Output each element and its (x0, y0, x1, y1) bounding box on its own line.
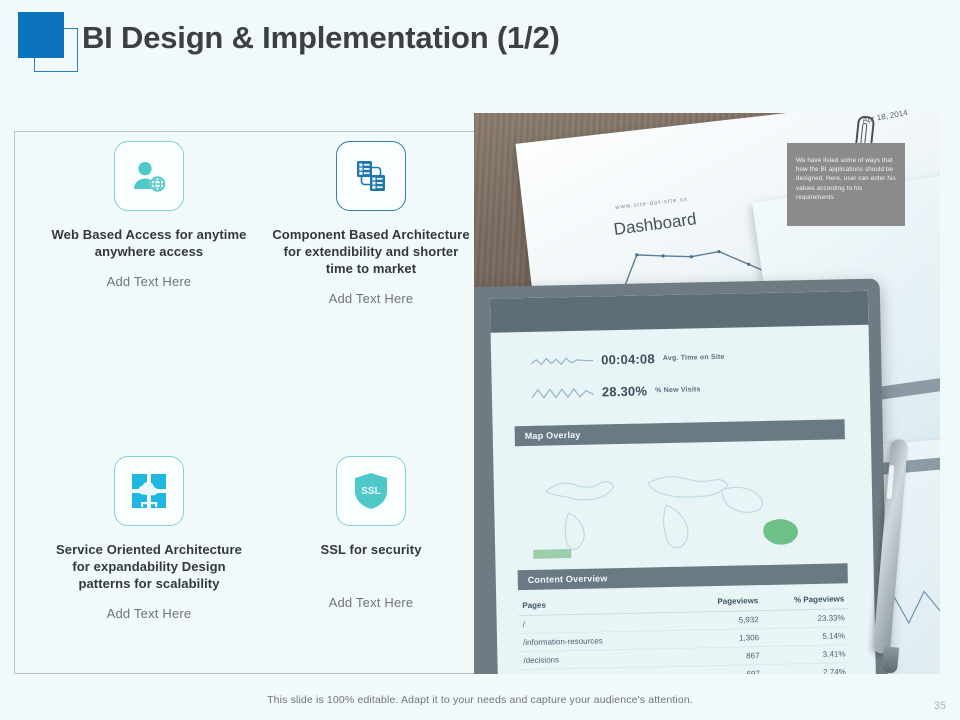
cell-pct: 2.74% (764, 663, 850, 674)
feature-card-subtitle[interactable]: Add Text Here (271, 291, 471, 306)
column-header-pageviews: Pageviews (690, 593, 763, 612)
tablet-metric-new-visits: 28.30% % New Visits (532, 382, 701, 401)
cloud-services-icon-box (114, 456, 184, 526)
cell-pageviews: 1,306 (691, 629, 764, 649)
feature-card-grid: Web Based Access for anytime anywhere ac… (14, 131, 506, 674)
world-map-overlay (515, 451, 847, 573)
ssl-shield-icon: SSL (352, 471, 390, 511)
footer-note: This slide is 100% editable. Adapt it to… (0, 694, 960, 706)
page-title: BI Design & Implementation (1/2) (82, 20, 560, 56)
page-number: 35 (934, 700, 946, 712)
stylus-tip (882, 646, 899, 673)
logo-filled-square (18, 12, 64, 58)
feature-card-subtitle[interactable]: Add Text Here (49, 274, 249, 289)
cell-pct: 5.14% (763, 627, 849, 647)
map-overlay-title: Map Overlay (525, 430, 581, 441)
tablet-metric-avg-time: 00:04:08 Avg. Time on Site (531, 350, 725, 369)
map-overlay-section-header[interactable]: Map Overlay (515, 419, 845, 446)
tablet-app-topbar (490, 291, 869, 333)
tablet-device: 00:04:08 Avg. Time on Site 28.30% % New … (474, 279, 888, 674)
feature-card-title: Web Based Access for anytime anywhere ac… (49, 226, 249, 260)
sparkline-icon (531, 353, 593, 368)
cell-pageviews: 5,932 (690, 611, 763, 631)
ssl-shield-icon-box: SSL (336, 456, 406, 526)
column-header-pct-pageviews: % Pageviews (762, 591, 848, 610)
feature-card-ssl-security[interactable]: SSL SSL for security Add Text Here (271, 456, 471, 610)
ssl-shield-label: SSL (361, 486, 380, 497)
cell-pageviews: 697 (692, 665, 765, 674)
cell-pct: 23.33% (763, 609, 849, 629)
slide-root: BI Design & Implementation (1/2) Web Bas… (0, 0, 960, 720)
cell-pageviews: 867 (691, 647, 764, 667)
feature-card-title: Component Based Architecture for extendi… (271, 226, 471, 277)
content-overview-title: Content Overview (528, 573, 608, 585)
component-blocks-icon-box (336, 141, 406, 211)
metric-label: % New Visits (655, 386, 701, 394)
sparkline-icon (532, 385, 594, 400)
feature-card-component-architecture[interactable]: Component Based Architecture for extendi… (271, 141, 471, 306)
metric-label: Avg. Time on Site (663, 354, 725, 362)
user-globe-icon-box (114, 141, 184, 211)
feature-card-subtitle[interactable]: Add Text Here (271, 595, 471, 610)
speaker-note: We have listed some of ways that how the… (787, 143, 905, 226)
user-globe-icon (129, 156, 169, 196)
cloud-services-icon (130, 472, 168, 510)
feature-card-web-based-access[interactable]: Web Based Access for anytime anywhere ac… (49, 141, 249, 289)
logo (18, 12, 78, 72)
component-blocks-icon (351, 156, 391, 196)
metric-value: 28.30% (602, 383, 648, 399)
world-map-icon (515, 451, 847, 573)
content-overview-table: Pages Pageviews % Pageviews / 5,932 23.3… (518, 591, 850, 674)
metric-value: 00:04:08 (601, 351, 655, 367)
slide-header: BI Design & Implementation (1/2) (0, 0, 960, 92)
feature-card-title: Service Oriented Architecture for expand… (49, 541, 249, 592)
feature-card-subtitle[interactable]: Add Text Here (49, 606, 249, 621)
feature-card-service-oriented-architecture[interactable]: Service Oriented Architecture for expand… (49, 456, 249, 621)
cell-pct: 3.41% (763, 645, 849, 665)
report-kicker: www.site-dot-site.xx (615, 197, 688, 211)
feature-card-title: SSL for security (271, 541, 471, 558)
tablet-screen[interactable]: 00:04:08 Avg. Time on Site 28.30% % New … (490, 291, 876, 674)
